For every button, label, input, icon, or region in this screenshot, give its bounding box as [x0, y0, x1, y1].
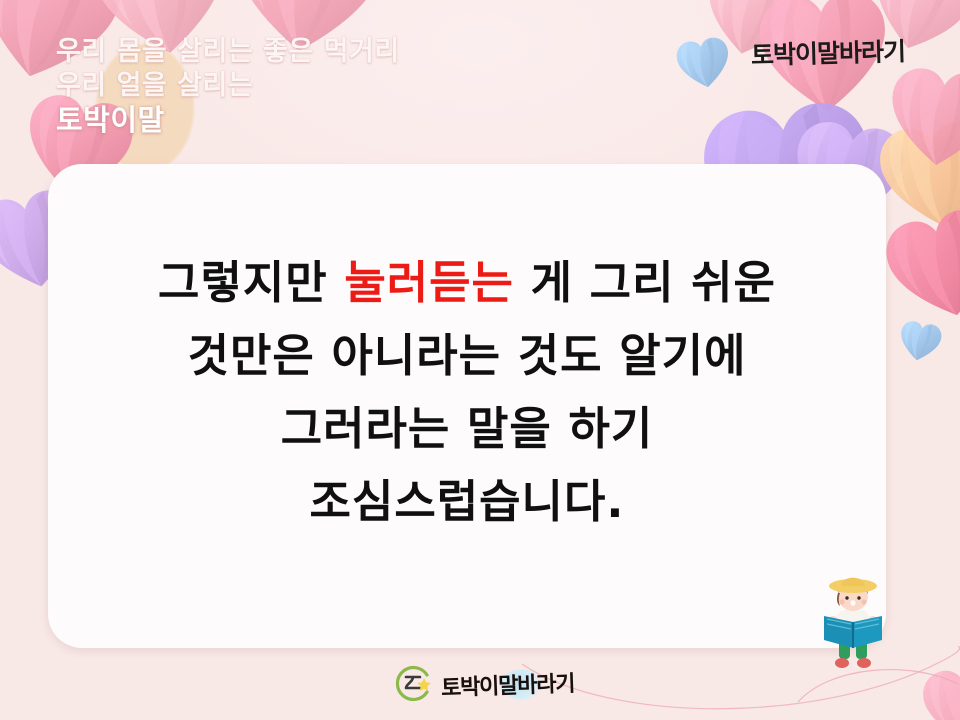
heart-pink-right-edge — [881, 59, 960, 180]
brand-wordmark-bottom: 토박이말바라기 — [440, 665, 574, 702]
hat-crown — [841, 578, 865, 586]
quote-text-highlight: 눌러듣는 — [344, 256, 514, 309]
heart-blue-right-small — [895, 317, 946, 368]
quote-block: 그렇지만 눌러듣는 게 그리 쉬운것만은 아니라는 것도 알기에그러라는 말을 … — [48, 260, 886, 552]
shoe-right — [857, 658, 871, 668]
quote-line-2: 것만은 아니라는 것도 알기에 — [48, 333, 886, 378]
quote-text-plain: 그렇지만 — [158, 256, 344, 309]
eye-right — [857, 596, 860, 599]
content-card: 그렇지만 눌러듣는 게 그리 쉬운것만은 아니라는 것도 알기에그러라는 말을 … — [48, 164, 886, 648]
child-reading-illustration — [806, 566, 902, 678]
cheek-right — [861, 599, 866, 604]
quote-text-plain: 것만은 아니라는 것도 알기에 — [188, 329, 747, 382]
logo-mark-icon — [393, 663, 434, 704]
quote-line-4: 조심스럽습니다. — [48, 479, 886, 524]
brand-wordmark-bottom-text: 토박이말바라기 — [441, 671, 575, 701]
quote-line-3: 그러라는 말을 하기 — [48, 406, 886, 451]
heart-pink-bottom-right — [915, 655, 960, 720]
quote-text-plain: 조심스럽습니다. — [310, 475, 625, 528]
quote-text-plain: 게 그리 쉬운 — [514, 256, 776, 309]
cheek-left — [839, 599, 844, 604]
brand-wordmark-top: 토박이말바라기 — [751, 32, 906, 72]
quote-text-plain: 그러라는 말을 하기 — [281, 402, 654, 455]
slide-root: 우리 몸을 살리는 좋은 먹거리 우리 얼을 살리는 토박이말 토박이말바라기 … — [0, 0, 960, 720]
quote-line-1: 그렇지만 눌러듣는 게 그리 쉬운 — [48, 260, 886, 305]
eye-left — [845, 596, 848, 599]
heart-pink-upper-center — [218, 0, 394, 72]
shoe-left — [835, 658, 849, 668]
heart-pink-topleft2 — [83, 0, 242, 76]
footer-logo-lockup: 토박이말바라기 — [393, 663, 574, 704]
mouth — [851, 600, 856, 606]
